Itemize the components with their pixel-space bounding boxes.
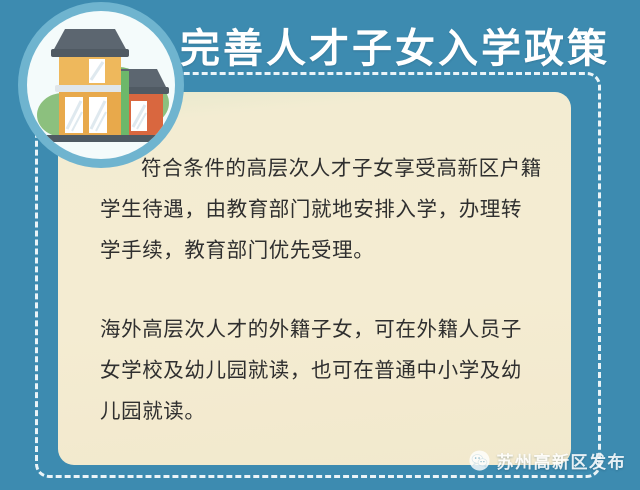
school-building-icon [27, 11, 175, 159]
poster-root: 完善人才子女入学政策 符合条件的高层次人才子女享受高新区户籍学生待遇，由教育部门… [0, 0, 640, 490]
page-title: 完善人才子女入学政策 [180, 16, 610, 74]
paragraph-1: 符合条件的高层次人才子女享受高新区户籍学生待遇，由教育部门就地安排入学，办理转学… [100, 148, 543, 271]
watermark: 苏州高新区发布 [469, 448, 627, 473]
watermark-account-name: 苏州高新区发布 [497, 448, 627, 473]
content-body: 符合条件的高层次人才子女享受高新区户籍学生待遇，由教育部门就地安排入学，办理转学… [100, 148, 543, 432]
badge-circle [18, 2, 184, 168]
paragraph-2: 海外高层次人才的外籍子女，可在外籍人员子女学校及幼儿园就读，也可在普通中小学及幼… [100, 309, 543, 432]
wechat-logo-icon [469, 450, 490, 471]
paragraph-spacer [100, 271, 543, 309]
